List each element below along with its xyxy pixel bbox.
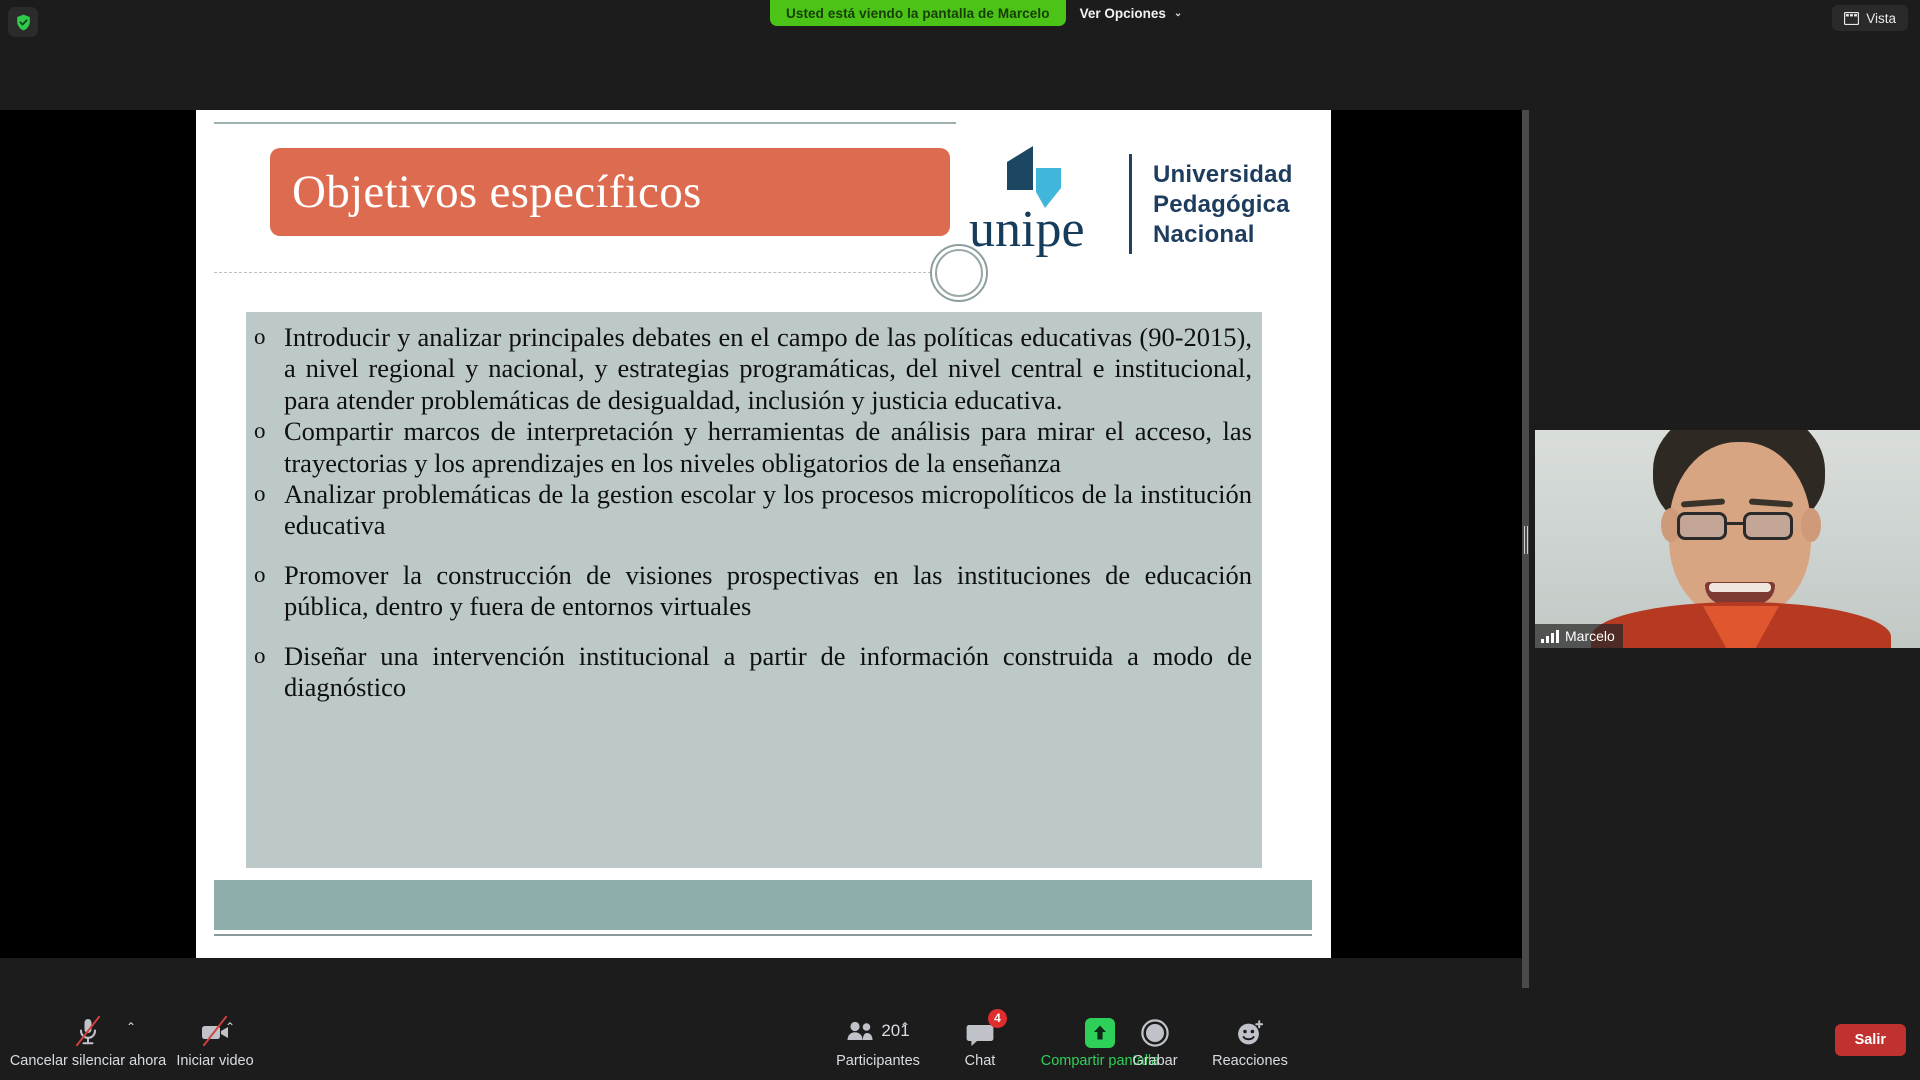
sharing-status-group: Usted está viendo la pantalla de Marcelo… bbox=[770, 0, 1196, 26]
leave-meeting-button[interactable]: Salir bbox=[1835, 1024, 1906, 1056]
slide-top-rule bbox=[214, 122, 956, 124]
bullet-text: Analizar problemáticas de la gestion esc… bbox=[284, 479, 1252, 542]
participant-name: Marcelo bbox=[1565, 628, 1615, 644]
bullet-marker: o bbox=[254, 322, 284, 353]
bullet-marker: o bbox=[254, 479, 284, 510]
mute-button-label: Cancelar silenciar ahora bbox=[10, 1054, 166, 1069]
unipe-flag-icon bbox=[1005, 146, 1065, 208]
microphone-muted-icon bbox=[75, 1014, 101, 1048]
unipe-wordmark: unipe bbox=[969, 200, 1085, 259]
zoom-meeting-window: Usted está viendo la pantalla de Marcelo… bbox=[0, 0, 1920, 1080]
slide-content-area: Objetivos específicos unipe Universidad … bbox=[214, 122, 1313, 944]
view-options-button[interactable]: Ver Opciones ⌄ bbox=[1066, 0, 1197, 26]
sharing-status-banner: Usted está viendo la pantalla de Marcelo bbox=[770, 0, 1066, 26]
participants-button[interactable]: 201 Participantes bbox=[818, 1014, 938, 1069]
list-item: o Analizar problemáticas de la gestion e… bbox=[254, 479, 1252, 542]
reactions-label: Reacciones bbox=[1212, 1054, 1288, 1069]
participants-label: Participantes bbox=[836, 1054, 920, 1069]
video-ear-right bbox=[1801, 508, 1821, 542]
video-glasses-bridge bbox=[1727, 522, 1743, 525]
list-item: o Diseñar una intervención institucional… bbox=[254, 641, 1252, 704]
people-icon bbox=[846, 1020, 876, 1042]
bullet-text: Diseñar una intervención institucional a… bbox=[284, 641, 1252, 704]
participants-caret[interactable]: ⌃ bbox=[900, 1020, 910, 1034]
slide-bullet-list: o Introducir y analizar principales deba… bbox=[246, 312, 1262, 868]
slide-footer-bar bbox=[214, 880, 1312, 930]
record-button[interactable]: Grabar bbox=[1110, 1014, 1200, 1069]
chevron-down-icon: ⌄ bbox=[1174, 8, 1182, 19]
start-video-button[interactable]: Iniciar video bbox=[160, 1014, 270, 1069]
view-button[interactable]: Vista bbox=[1832, 5, 1908, 31]
bullet-marker: o bbox=[254, 560, 284, 591]
participant-name-badge: Marcelo bbox=[1535, 624, 1623, 648]
slide-bottom-border bbox=[214, 934, 1312, 936]
bullet-marker: o bbox=[254, 416, 284, 447]
start-video-label: Iniciar video bbox=[176, 1054, 253, 1069]
slide-title-banner: Objetivos específicos bbox=[270, 148, 950, 236]
bullet-text: Introducir y analizar principales debate… bbox=[284, 322, 1252, 416]
list-item: o Promover la construcción de visiones p… bbox=[254, 560, 1252, 623]
slide-dashed-rule bbox=[214, 272, 956, 273]
logo-line-3: Nacional bbox=[1153, 220, 1293, 250]
view-label: Vista bbox=[1866, 11, 1896, 26]
view-options-label: Ver Opciones bbox=[1080, 6, 1166, 21]
shared-screen-canvas: Objetivos específicos unipe Universidad … bbox=[0, 110, 1527, 958]
participant-video-tile[interactable]: Marcelo bbox=[1535, 430, 1920, 648]
video-glasses-left bbox=[1677, 512, 1727, 540]
chat-icon-wrap: 4 bbox=[966, 1014, 994, 1048]
logo-divider bbox=[1129, 154, 1132, 254]
video-options-caret[interactable]: ⌃ bbox=[225, 1020, 235, 1034]
logo-line-2: Pedagógica bbox=[1153, 190, 1293, 220]
audio-options-caret[interactable]: ⌃ bbox=[126, 1020, 136, 1034]
record-label: Grabar bbox=[1132, 1054, 1177, 1069]
unipe-tagline: Universidad Pedagógica Nacional bbox=[1153, 160, 1293, 251]
reactions-button[interactable]: Reacciones bbox=[1190, 1014, 1310, 1069]
logo-line-1: Universidad bbox=[1153, 160, 1293, 190]
mute-button[interactable]: Cancelar silenciar ahora bbox=[18, 1014, 158, 1069]
chat-bubble-icon bbox=[966, 1022, 994, 1048]
list-item: o Compartir marcos de interpretación y h… bbox=[254, 416, 1252, 479]
list-item: o Introducir y analizar principales deba… bbox=[254, 322, 1252, 416]
record-circle-icon bbox=[1140, 1014, 1170, 1048]
chat-label: Chat bbox=[965, 1054, 996, 1069]
top-bar: Usted está viendo la pantalla de Marcelo… bbox=[0, 0, 1920, 34]
share-panel-drag-handle[interactable] bbox=[1523, 525, 1528, 555]
bullet-text: Promover la construcción de visiones pro… bbox=[284, 560, 1252, 623]
bullet-marker: o bbox=[254, 641, 284, 672]
shield-check-icon bbox=[14, 13, 33, 32]
bullet-text: Compartir marcos de interpretación y her… bbox=[284, 416, 1252, 479]
security-shield-button[interactable] bbox=[8, 7, 38, 37]
signal-bars-icon bbox=[1541, 630, 1559, 643]
presentation-slide: Objetivos específicos unipe Universidad … bbox=[196, 110, 1331, 958]
unipe-logo: unipe Universidad Pedagógica Nacional bbox=[963, 144, 1303, 262]
layout-grid-icon bbox=[1844, 12, 1859, 25]
slide-title: Objetivos específicos bbox=[270, 165, 702, 219]
meeting-toolbar: Cancelar silenciar ahora ⌃ Iniciar video… bbox=[0, 988, 1920, 1080]
video-teeth bbox=[1709, 583, 1771, 592]
video-glasses-right bbox=[1743, 512, 1793, 540]
smiley-plus-icon bbox=[1235, 1014, 1265, 1048]
share-panel-divider[interactable] bbox=[1522, 110, 1529, 1080]
